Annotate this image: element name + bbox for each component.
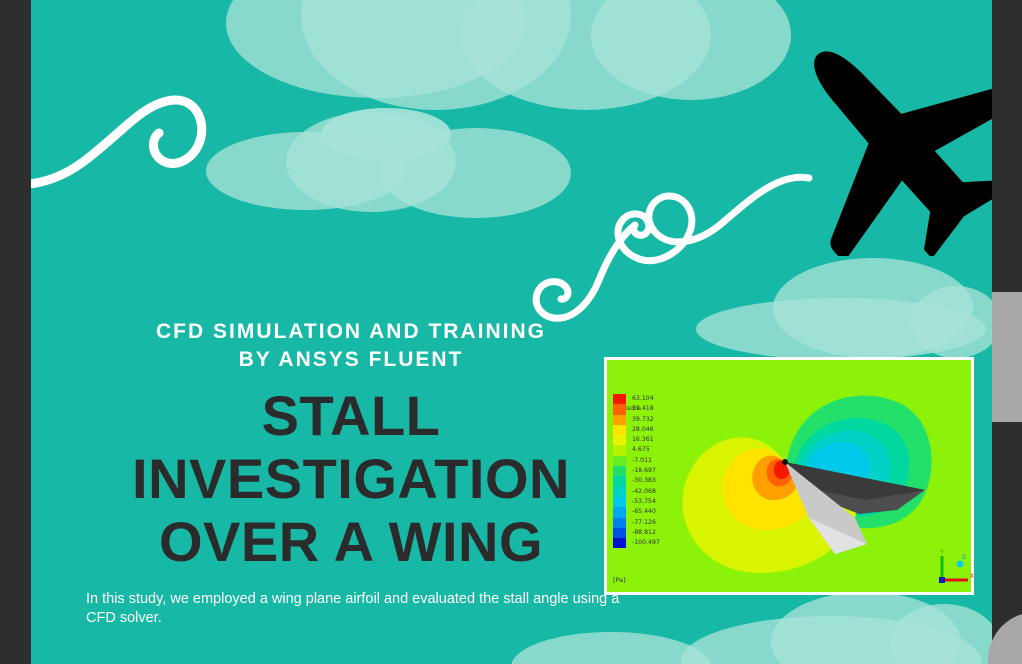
pressure-contour-graphic	[659, 368, 969, 590]
legend-swatch	[613, 415, 626, 425]
axis-label-z: Z	[962, 554, 966, 561]
legend-label: -18.697	[632, 467, 656, 474]
legend-label: -88.812	[632, 529, 656, 536]
contrail-left-swirl	[31, 55, 271, 195]
legend-swatch	[613, 404, 626, 414]
legend-swatch	[613, 507, 626, 517]
legend-label: -42.068	[632, 488, 656, 495]
cloud-right-c	[911, 286, 992, 358]
contrail-left-tail	[31, 95, 45, 145]
legend-swatch	[613, 425, 626, 435]
title-line-3: OVER A WING	[56, 510, 646, 573]
legend-swatch	[613, 528, 626, 538]
legend-label: 28.046	[632, 426, 654, 433]
legend-swatch	[613, 394, 626, 404]
bottom-right-gray-circle	[988, 612, 1022, 664]
legend-label: 63.104	[632, 395, 654, 402]
cfd-plot-area: Pressure 63.10451.41839.73228.04616.3614…	[607, 360, 971, 592]
slide-canvas: CFD SIMULATION AND TRAINING BY ANSYS FLU…	[0, 0, 1022, 664]
legend-label: -53.754	[632, 498, 656, 505]
cloud-bottom-left	[511, 632, 711, 664]
subtitle-line-1: CFD SIMULATION AND TRAINING	[56, 318, 646, 346]
airplane-icon	[773, 28, 992, 256]
legend-swatch	[613, 445, 626, 455]
legend-label: -65.440	[632, 508, 656, 515]
legend-label: 39.732	[632, 416, 654, 423]
legend-label: -7.011	[632, 457, 652, 464]
legend-label: -77.126	[632, 519, 656, 526]
legend-label: -30.383	[632, 477, 656, 484]
legend-swatch	[613, 476, 626, 486]
legend-swatch	[613, 435, 626, 445]
legend-label: 51.418	[632, 405, 654, 412]
cfd-contour-panel: Pressure 63.10451.41839.73228.04616.3614…	[604, 357, 974, 595]
legend-label: -100.497	[632, 539, 660, 546]
axis-label-y: Y	[939, 549, 944, 556]
right-edge-gray-strip	[992, 292, 1022, 422]
page-title: STALL INVESTIGATION OVER A WING	[56, 384, 646, 573]
legend-swatch	[613, 518, 626, 528]
title-line-2: INVESTIGATION	[56, 447, 646, 510]
subtitle-line-2: BY ANSYS FLUENT	[56, 346, 646, 374]
legend-swatch	[613, 538, 626, 548]
subtitle: CFD SIMULATION AND TRAINING BY ANSYS FLU…	[56, 318, 646, 374]
legend-label: 4.675	[632, 446, 650, 453]
legend-swatch	[613, 456, 626, 466]
legend-swatch	[613, 487, 626, 497]
axis-label-x: X	[970, 573, 974, 580]
axis-triad-icon: Y X Z	[934, 548, 976, 588]
legend-unit: [Pa]	[613, 576, 626, 584]
headline-block: CFD SIMULATION AND TRAINING BY ANSYS FLU…	[56, 318, 646, 573]
legend-swatch	[613, 497, 626, 507]
description-text: In this study, we employed a wing plane …	[86, 590, 626, 628]
legend-label: 16.361	[632, 436, 654, 443]
title-line-1: STALL	[56, 384, 646, 447]
legend-swatch	[613, 466, 626, 476]
